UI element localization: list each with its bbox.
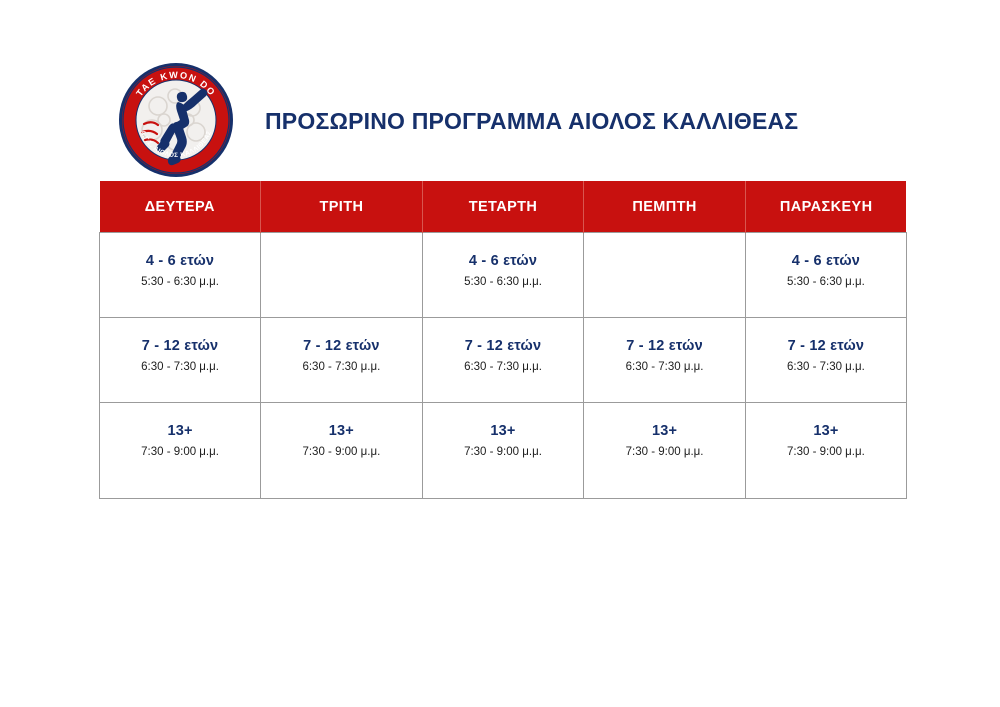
schedule-cell: 13+ 7:30 - 9:00 μ.μ.	[100, 403, 261, 499]
schedule-cell: 7 - 12 ετών 6:30 - 7:30 μ.μ.	[422, 318, 584, 403]
cell-time-range: 7:30 - 9:00 μ.μ.	[787, 446, 865, 460]
cell-time-range: 6:30 - 7:30 μ.μ.	[464, 361, 542, 375]
cell-age-group: 7 - 12 ετών	[465, 338, 542, 355]
club-logo: TAE KWON DO Α.Γ.Σ. ΑΙΟΛΟΣ ΚΑΛΛΙΘΕΑΣ	[118, 62, 234, 178]
schedule-body: 4 - 6 ετών 5:30 - 6:30 μ.μ. 4 - 6 ετών 5…	[100, 233, 907, 499]
cell-time-range: 5:30 - 6:30 μ.μ.	[464, 276, 542, 290]
schedule-cell: 13+ 7:30 - 9:00 μ.μ.	[584, 403, 746, 499]
column-header-thursday: ΠΕΜΠΤΗ	[584, 181, 746, 233]
cell-time-range: 6:30 - 7:30 μ.μ.	[141, 361, 219, 375]
column-header-friday: ΠΑΡΑΣΚΕΥΗ	[745, 181, 906, 233]
cell-age-group: 7 - 12 ετών	[303, 338, 380, 355]
cell-age-group: 7 - 12 ετών	[626, 338, 703, 355]
schedule-cell: 13+ 7:30 - 9:00 μ.μ.	[745, 403, 906, 499]
cell-time-range: 7:30 - 9:00 μ.μ.	[302, 446, 380, 460]
schedule-cell: 13+ 7:30 - 9:00 μ.μ.	[261, 403, 423, 499]
table-row: 7 - 12 ετών 6:30 - 7:30 μ.μ. 7 - 12 ετών…	[100, 318, 907, 403]
column-header-tuesday: ΤΡΙΤΗ	[261, 181, 423, 233]
cell-age-group: 4 - 6 ετών	[792, 253, 860, 270]
cell-time-range: 5:30 - 6:30 μ.μ.	[787, 276, 865, 290]
schedule-cell: 7 - 12 ετών 6:30 - 7:30 μ.μ.	[261, 318, 423, 403]
cell-age-group: 4 - 6 ετών	[146, 253, 214, 270]
cell-age-group: 7 - 12 ετών	[142, 338, 219, 355]
cell-time-range: 7:30 - 9:00 μ.μ.	[464, 446, 542, 460]
cell-time-range: 6:30 - 7:30 μ.μ.	[787, 361, 865, 375]
table-row: 4 - 6 ετών 5:30 - 6:30 μ.μ. 4 - 6 ετών 5…	[100, 233, 907, 318]
schedule-cell: 7 - 12 ετών 6:30 - 7:30 μ.μ.	[745, 318, 906, 403]
cell-time-range: 7:30 - 9:00 μ.μ.	[626, 446, 704, 460]
column-header-monday: ΔΕΥΤΕΡΑ	[100, 181, 261, 233]
schedule-cell: 4 - 6 ετών 5:30 - 6:30 μ.μ.	[745, 233, 906, 318]
cell-time-range: 6:30 - 7:30 μ.μ.	[302, 361, 380, 375]
schedule-cell: 13+ 7:30 - 9:00 μ.μ.	[422, 403, 584, 499]
column-header-wednesday: ΤΕΤΑΡΤΗ	[422, 181, 584, 233]
schedule-cell: 4 - 6 ετών 5:30 - 6:30 μ.μ.	[100, 233, 261, 318]
schedule-cell: 4 - 6 ετών 5:30 - 6:30 μ.μ.	[422, 233, 584, 318]
cell-time-range: 5:30 - 6:30 μ.μ.	[141, 276, 219, 290]
cell-time-range: 7:30 - 9:00 μ.μ.	[141, 446, 219, 460]
schedule-cell-empty	[584, 233, 746, 318]
page-title: ΠΡΟΣΩΡΙΝΟ ΠΡΟΓΡΑΜΜΑ ΑΙΟΛΟΣ ΚΑΛΛΙΘΕΑΣ	[265, 108, 798, 135]
schedule-cell-empty	[261, 233, 423, 318]
cell-age-group: 13+	[652, 423, 677, 440]
table-row: 13+ 7:30 - 9:00 μ.μ. 13+ 7:30 - 9:00 μ.μ…	[100, 403, 907, 499]
schedule-cell: 7 - 12 ετών 6:30 - 7:30 μ.μ.	[584, 318, 746, 403]
cell-age-group: 7 - 12 ετών	[788, 338, 865, 355]
cell-age-group: 13+	[167, 423, 192, 440]
page-header: TAE KWON DO Α.Γ.Σ. ΑΙΟΛΟΣ ΚΑΛΛΙΘΕΑΣ ΠΡΟΣ…	[0, 0, 1000, 181]
cell-time-range: 6:30 - 7:30 μ.μ.	[626, 361, 704, 375]
taekwondo-emblem-icon: TAE KWON DO Α.Γ.Σ. ΑΙΟΛΟΣ ΚΑΛΛΙΘΕΑΣ	[118, 62, 234, 178]
cell-age-group: 13+	[813, 423, 838, 440]
cell-age-group: 13+	[490, 423, 515, 440]
schedule-header-row: ΔΕΥΤΕΡΑ ΤΡΙΤΗ ΤΕΤΑΡΤΗ ΠΕΜΠΤΗ ΠΑΡΑΣΚΕΥΗ	[100, 181, 907, 233]
schedule-cell: 7 - 12 ετών 6:30 - 7:30 μ.μ.	[100, 318, 261, 403]
cell-age-group: 4 - 6 ετών	[469, 253, 537, 270]
schedule-table-container: ΔΕΥΤΕΡΑ ΤΡΙΤΗ ΤΕΤΑΡΤΗ ΠΕΜΠΤΗ ΠΑΡΑΣΚΕΥΗ 4…	[99, 181, 902, 499]
schedule-table: ΔΕΥΤΕΡΑ ΤΡΙΤΗ ΤΕΤΑΡΤΗ ΠΕΜΠΤΗ ΠΑΡΑΣΚΕΥΗ 4…	[99, 181, 907, 499]
cell-age-group: 13+	[329, 423, 354, 440]
